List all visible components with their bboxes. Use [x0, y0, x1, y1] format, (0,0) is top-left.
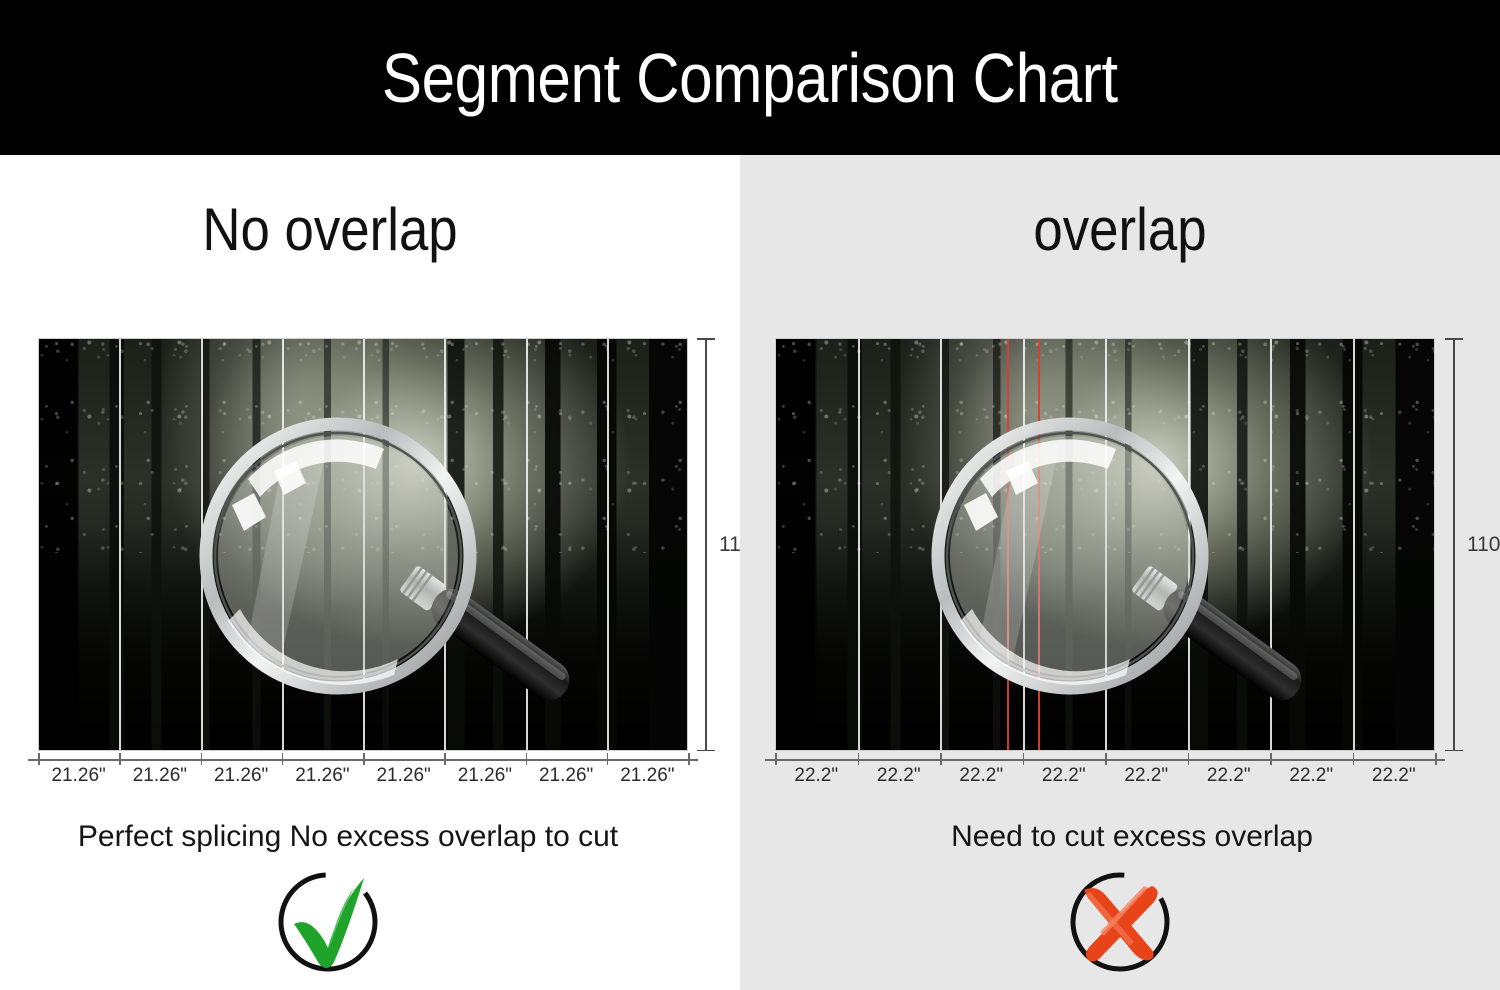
- segment-divider: [282, 338, 284, 751]
- segment-size-label: 21.26": [526, 765, 607, 787]
- segment-size-label: 21.26": [363, 765, 444, 787]
- segment-size-label: 22.2": [1188, 765, 1271, 787]
- segment-divider: [1270, 338, 1272, 751]
- segment-divider-lines-right: [775, 338, 1435, 751]
- dimension-tick: [1188, 753, 1190, 765]
- dimension-line: [1453, 338, 1455, 751]
- overlap-guide-line: [1038, 338, 1040, 751]
- dimension-tick: [444, 753, 446, 765]
- cross-mark-icon: [1060, 870, 1180, 978]
- segment-size-label: 22.2": [1270, 765, 1353, 787]
- segment-size-label: 22.2": [858, 765, 941, 787]
- segment-size-label: 22.2": [1105, 765, 1188, 787]
- dimension-tick: [526, 753, 528, 765]
- dimension-tick: [940, 753, 942, 765]
- dimension-tick: [201, 753, 203, 765]
- dimension-line: [705, 338, 707, 751]
- panel-heading-overlap: overlap: [786, 195, 1455, 264]
- segment-size-label: 21.26": [38, 765, 119, 787]
- panel-no-overlap: No overlap: [0, 155, 740, 990]
- segment-divider: [607, 338, 609, 751]
- segment-size-label: 21.26": [444, 765, 525, 787]
- page-root: Segment Comparison Chart No overlap: [0, 0, 1500, 990]
- segment-divider: [444, 338, 446, 751]
- segment-divider: [1023, 338, 1025, 751]
- comparison-panels: No overlap: [0, 155, 1500, 990]
- overlap-guide-line: [1007, 338, 1009, 751]
- segment-size-label: 22.2": [940, 765, 1023, 787]
- dimension-tick: [1435, 753, 1437, 765]
- segment-divider: [1353, 338, 1355, 751]
- dimension-tick: [688, 753, 690, 765]
- dimension-tick: [1353, 753, 1355, 765]
- segment-dimension-row-left: 21.26" 21.26" 21.26" 21.26" 21.26" 21.26…: [28, 759, 698, 793]
- height-dimension-right: 110": [1445, 338, 1500, 751]
- check-mark-icon: [268, 870, 388, 978]
- segment-size-label: 22.2": [1023, 765, 1106, 787]
- panel-heading-no-overlap: No overlap: [4, 195, 655, 264]
- height-label-right: 110": [1467, 533, 1500, 557]
- dimension-tick: [1023, 753, 1025, 765]
- dimension-tick: [1105, 753, 1107, 765]
- dimension-tick: [38, 753, 40, 765]
- segment-divider: [363, 338, 365, 751]
- dimension-tick: [775, 753, 777, 765]
- dimension-tick: [119, 753, 121, 765]
- segment-divider: [201, 338, 203, 751]
- panel-overlap: overlap: [740, 155, 1500, 990]
- segment-divider: [858, 338, 860, 751]
- segment-size-label: 21.26": [119, 765, 200, 787]
- segment-dimension-row-right: 22.2" 22.2" 22.2" 22.2" 22.2" 22.2" 22.2…: [765, 759, 1445, 793]
- segment-divider: [119, 338, 121, 751]
- page-title: Segment Comparison Chart: [382, 38, 1118, 118]
- dimension-tick: [282, 753, 284, 765]
- caption-overlap: Need to cut excess overlap: [752, 820, 1500, 854]
- caption-no-overlap: Perfect splicing No excess overlap to cu…: [0, 820, 718, 854]
- segment-divider: [526, 338, 528, 751]
- segment-size-label: 22.2": [1353, 765, 1436, 787]
- segment-divider-lines-left: [38, 338, 688, 751]
- dimension-tick: [1270, 753, 1272, 765]
- segment-divider: [1105, 338, 1107, 751]
- segment-size-label: 21.26": [607, 765, 688, 787]
- mural-preview-overlap: [775, 338, 1435, 751]
- dimension-tick-bottom: [697, 750, 715, 752]
- segment-size-label: 21.26": [201, 765, 282, 787]
- dimension-tick: [858, 753, 860, 765]
- mural-preview-no-overlap: [38, 338, 688, 751]
- title-banner: Segment Comparison Chart: [0, 0, 1500, 155]
- segment-divider: [940, 338, 942, 751]
- dimension-tick-bottom: [1445, 750, 1463, 752]
- dimension-tick: [607, 753, 609, 765]
- segment-size-label: 21.26": [282, 765, 363, 787]
- dimension-tick: [363, 753, 365, 765]
- segment-divider: [1188, 338, 1190, 751]
- segment-size-label: 22.2": [775, 765, 858, 787]
